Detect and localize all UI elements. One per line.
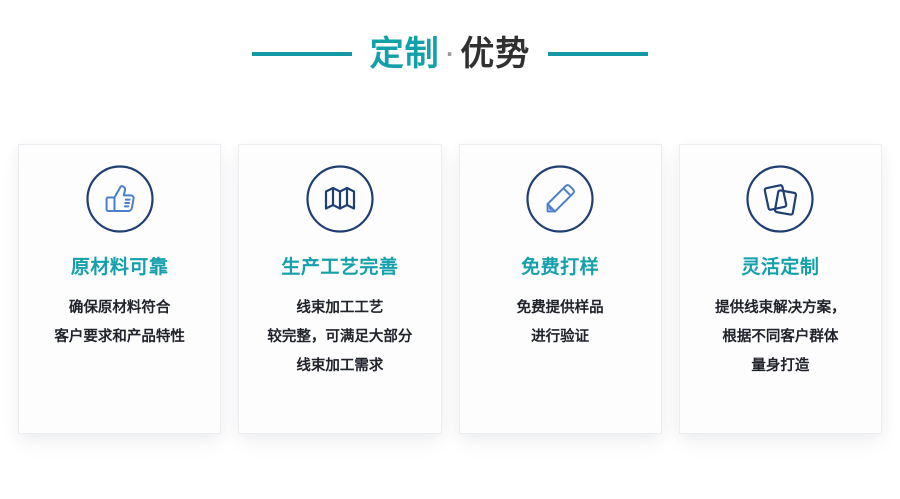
advantage-card[interactable]: 免费打样 免费提供样品 进行验证 [460, 145, 661, 433]
card-description: 提供线束解决方案， 根据不同客户群体 量身打造 [707, 294, 854, 381]
section-heading: 定制 · 优势 [0, 28, 900, 80]
overlapping-cards-icon [744, 163, 816, 235]
advantage-card[interactable]: 生产工艺完善 线束加工工艺 较完整，可满足大部分 线束加工需求 [239, 145, 440, 433]
card-title: 免费打样 [521, 257, 599, 278]
heading-rule-left [252, 52, 352, 56]
folded-map-icon [304, 163, 376, 235]
card-title: 生产工艺完善 [281, 257, 398, 278]
card-title: 灵活定制 [741, 257, 819, 278]
card-description: 线束加工工艺 较完整，可满足大部分 线束加工需求 [259, 294, 420, 381]
advantage-card[interactable]: 原材料可靠 确保原材料符合 客户要求和产品特性 [19, 145, 220, 433]
advantage-card-list: 原材料可靠 确保原材料符合 客户要求和产品特性 生产工艺完善 线束加工工艺 较完… [19, 145, 881, 433]
card-description: 免费提供样品 进行验证 [509, 294, 612, 352]
card-title: 原材料可靠 [71, 257, 169, 278]
advantage-card[interactable]: 灵活定制 提供线束解决方案， 根据不同客户群体 量身打造 [680, 145, 881, 433]
page-title: 定制 · 优势 [370, 37, 531, 71]
heading-separator-dot: · [446, 44, 455, 64]
card-description: 确保原材料符合 客户要求和产品特性 [46, 294, 193, 352]
heading-main-text: 优势 [460, 37, 530, 71]
pencil-icon [524, 163, 596, 235]
thumbs-up-icon [84, 163, 156, 235]
heading-accent-text: 定制 [370, 37, 440, 71]
heading-rule-right [548, 52, 648, 56]
